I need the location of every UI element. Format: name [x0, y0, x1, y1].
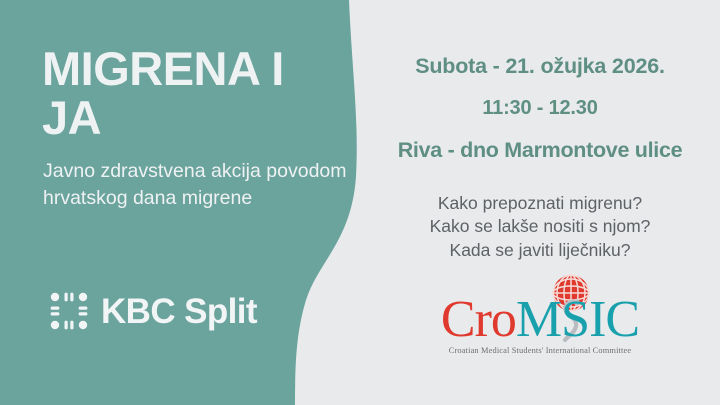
event-time: 11:30 - 12.30: [360, 97, 720, 120]
cromsic-tagline: Croatian Medical Students' International…: [412, 346, 668, 355]
cromsic-wordmark: CroMSIC: [412, 294, 668, 346]
kbc-split-wordmark: KBC Split: [101, 294, 257, 329]
subtitle: Javno zdravstvena akcija povodom hrvatsk…: [43, 158, 348, 212]
event-date: Subota - 21. ožujka 2026.: [360, 54, 720, 79]
page-title: MIGRENA I JA: [42, 44, 342, 143]
questions-list: Kako prepoznati migrenu? Kako se lakše n…: [360, 192, 720, 262]
question-item: Kako se lakše nositi s njom?: [360, 215, 720, 238]
right-column: Subota - 21. ožujka 2026. 11:30 - 12.30 …: [360, 0, 720, 405]
left-column: MIGRENA I JA Javno zdravstvena akcija po…: [42, 0, 342, 405]
cromsic-cro-text: Cro: [441, 291, 516, 348]
kbc-dot-grid-icon: [50, 292, 88, 330]
cromsic-logo: CroMSIC Croatian Medical Students' Inter…: [412, 272, 668, 372]
poster-canvas: MIGRENA I JA Javno zdravstvena akcija po…: [0, 0, 720, 405]
cromsic-msic-text: MSIC: [516, 291, 639, 348]
question-item: Kako prepoznati migrenu?: [360, 192, 720, 215]
event-location: Riva - dno Marmontove ulice: [360, 138, 720, 163]
kbc-split-logo: KBC Split: [50, 292, 257, 330]
question-item: Kada se javiti liječniku?: [360, 239, 720, 262]
